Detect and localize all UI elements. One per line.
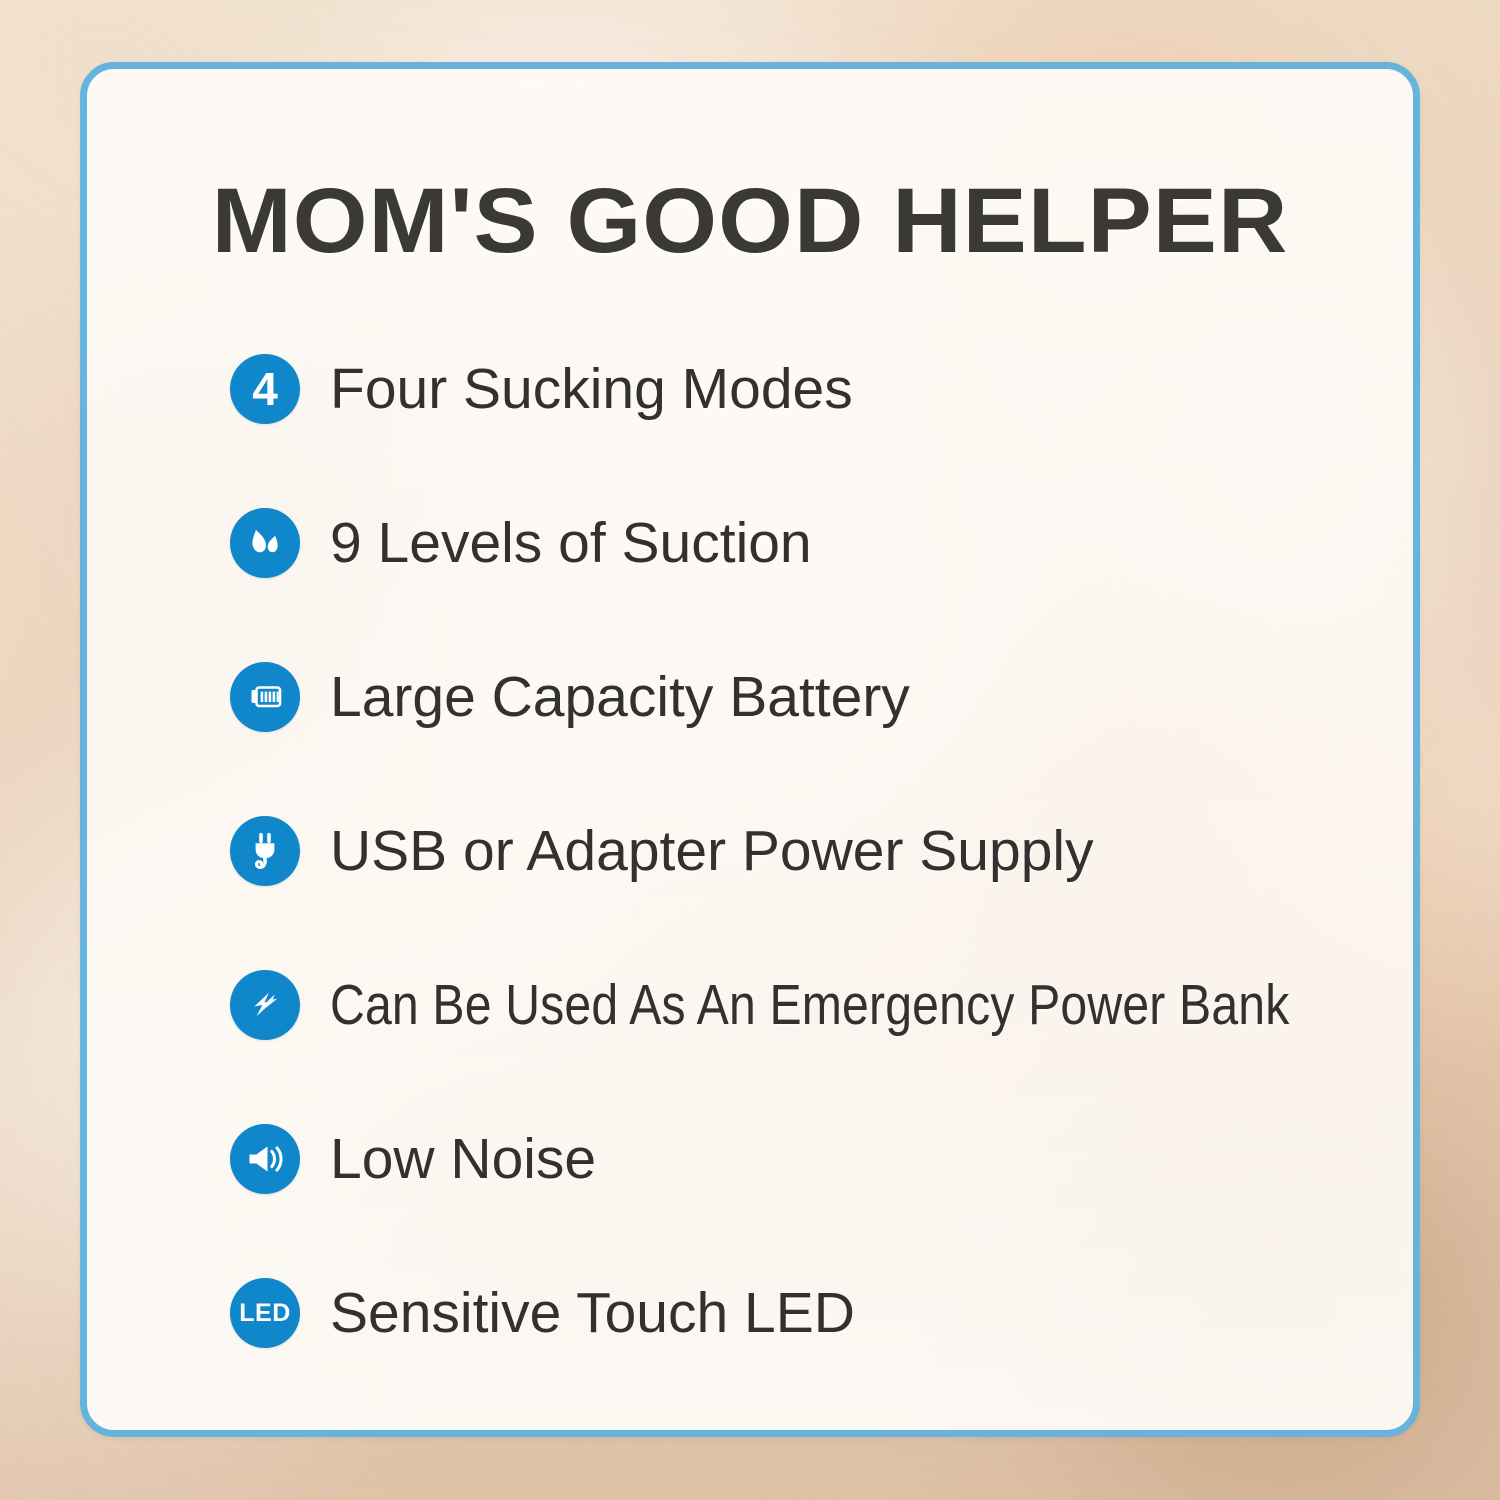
number-four-icon: 4	[230, 354, 300, 424]
lightning-bolt-icon	[230, 970, 300, 1040]
page-title: MOM'S GOOD HELPER	[0, 175, 1500, 267]
product-feature-poster: MOM'S GOOD HELPER 4 Four Sucking Modes 9…	[0, 0, 1500, 1500]
feature-item-nine-levels-of-suction: 9 Levels of Suction	[230, 507, 1490, 579]
feature-item-emergency-power-bank: Can Be Used As An Emergency Power Bank	[230, 969, 1490, 1041]
feature-label: 9 Levels of Suction	[330, 515, 812, 572]
feature-label: Sensitive Touch LED	[330, 1285, 855, 1342]
water-droplets-icon	[230, 508, 300, 578]
feature-item-four-sucking-modes: 4 Four Sucking Modes	[230, 353, 1490, 425]
feature-label: USB or Adapter Power Supply	[330, 823, 1094, 880]
feature-label: Large Capacity Battery	[330, 669, 910, 726]
feature-list: 4 Four Sucking Modes 9 Levels of Suction	[230, 353, 1490, 1349]
power-plug-icon	[230, 816, 300, 886]
feature-item-large-capacity-battery: Large Capacity Battery	[230, 661, 1490, 733]
led-icon: LED	[230, 1278, 300, 1348]
feature-label: Four Sucking Modes	[330, 361, 853, 418]
feature-item-sensitive-touch-led: LED Sensitive Touch LED	[230, 1277, 1490, 1349]
feature-label: Low Noise	[330, 1131, 596, 1188]
feature-label: Can Be Used As An Emergency Power Bank	[330, 977, 1290, 1034]
feature-item-usb-or-adapter-power-supply: USB or Adapter Power Supply	[230, 815, 1490, 887]
speaker-volume-icon	[230, 1124, 300, 1194]
led-glyph: LED	[239, 1301, 291, 1326]
feature-item-low-noise: Low Noise	[230, 1123, 1490, 1195]
battery-icon	[230, 662, 300, 732]
number-four-glyph: 4	[252, 366, 278, 412]
